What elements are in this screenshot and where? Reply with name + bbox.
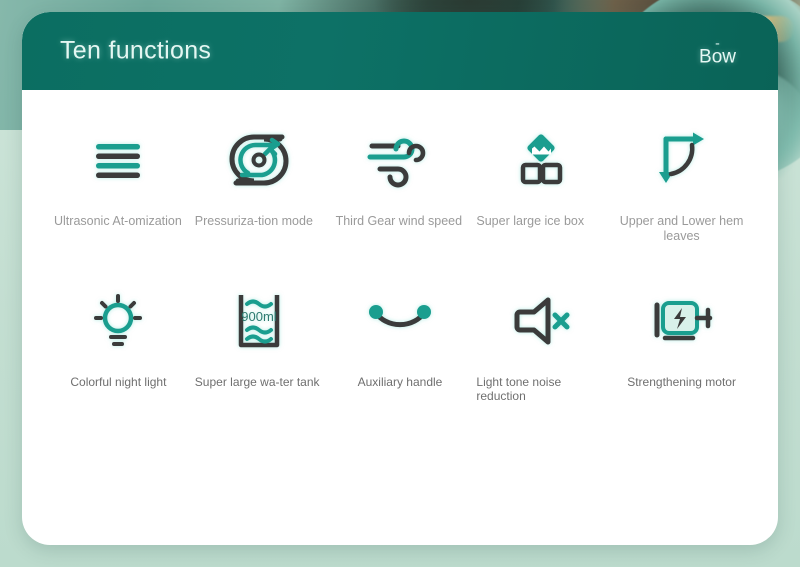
- water-tank-capacity-text: 900ml: [241, 309, 277, 324]
- feature-strengthening-motor[interactable]: Strengthening motor: [611, 285, 752, 404]
- brand-block: - Bow: [699, 36, 736, 67]
- hem-leaves-arrows-icon: [646, 124, 718, 196]
- brand-dash: -: [699, 36, 736, 46]
- ultrasonic-atomization-icon: [82, 124, 154, 196]
- feature-label: Auxiliary handle: [330, 375, 471, 390]
- feature-pressurization-mode[interactable]: Pressuriza-tion mode: [189, 124, 330, 245]
- feature-noise-reduction[interactable]: Light tone noise reduction: [470, 285, 611, 404]
- feature-label: Colorful night light: [48, 375, 189, 390]
- feature-wind-speed[interactable]: Third Gear wind speed: [330, 124, 471, 245]
- card-header: Ten functions - Bow: [22, 12, 778, 90]
- pressurization-mode-icon: [223, 124, 295, 196]
- features-grid-row1: Ultrasonic At-omization Pressuriza-tion …: [22, 90, 778, 245]
- feature-label: Strengthening motor: [611, 375, 752, 390]
- ice-box-icon: [505, 124, 577, 196]
- page-title: Ten functions: [60, 37, 211, 66]
- noise-reduction-icon: [505, 285, 577, 357]
- feature-label: Ultrasonic At-omization: [48, 214, 189, 229]
- feature-hem-leaves[interactable]: Upper and Lower hem leaves: [611, 124, 752, 245]
- night-light-icon: [82, 285, 154, 357]
- auxiliary-handle-icon: [364, 285, 436, 357]
- feature-label: Upper and Lower hem leaves: [611, 214, 752, 245]
- feature-label: Super large ice box: [470, 214, 611, 229]
- feature-ultrasonic-atomization[interactable]: Ultrasonic At-omization: [48, 124, 189, 245]
- feature-night-light[interactable]: Colorful night light: [48, 285, 189, 404]
- strengthening-motor-icon: [646, 285, 718, 357]
- water-tank-icon: 900ml: [223, 285, 295, 357]
- brand-name: Bow: [699, 48, 736, 67]
- wind-speed-icon: [364, 124, 436, 196]
- feature-label: Super large wa-ter tank: [189, 375, 330, 390]
- feature-label: Light tone noise reduction: [470, 375, 611, 404]
- feature-auxiliary-handle[interactable]: Auxiliary handle: [330, 285, 471, 404]
- features-grid-row2: Colorful night light 900ml Super large w…: [22, 245, 778, 404]
- feature-label: Third Gear wind speed: [330, 214, 471, 229]
- features-card: Ten functions - Bow Ultrasonic At-omizat…: [22, 12, 778, 545]
- feature-ice-box[interactable]: Super large ice box: [470, 124, 611, 245]
- feature-water-tank[interactable]: 900ml Super large wa-ter tank: [189, 285, 330, 404]
- feature-label: Pressuriza-tion mode: [189, 214, 330, 229]
